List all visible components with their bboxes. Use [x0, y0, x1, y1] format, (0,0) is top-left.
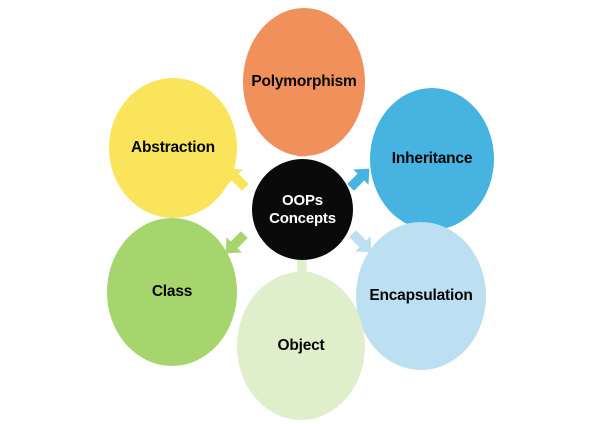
center-node-label-line1: OOPs [282, 192, 323, 209]
diagram-canvas: Polymorphism Inheritance Encapsulation O… [0, 0, 600, 424]
concept-node-abstraction[interactable]: Abstraction [109, 78, 237, 218]
arrow-up-right-icon [345, 163, 375, 193]
concept-node-object-label: Object [277, 337, 324, 354]
arrow-down-right-shape [347, 228, 377, 258]
center-node-oops-concepts[interactable]: OOPs Concepts [252, 159, 353, 260]
concept-node-class[interactable]: Class [107, 218, 237, 366]
arrow-up-icon [287, 128, 317, 158]
concept-node-polymorphism-label: Polymorphism [251, 73, 356, 90]
center-node-label-line2: Concepts [269, 210, 336, 227]
concept-node-encapsulation-label: Encapsulation [369, 287, 472, 304]
concept-node-object[interactable]: Object [237, 272, 365, 420]
center-node-label: OOPs Concepts [269, 192, 336, 228]
arrow-down-left-shape [220, 229, 250, 259]
arrow-down-left-icon [220, 229, 250, 259]
concept-node-abstraction-label: Abstraction [131, 139, 215, 156]
arrow-down-icon [287, 256, 317, 286]
arrow-down-right-icon [347, 228, 377, 258]
arrow-up-left-shape [221, 163, 251, 193]
concept-node-class-label: Class [152, 283, 192, 300]
arrow-up-right-shape [345, 163, 375, 193]
arrow-down-shape [291, 258, 313, 284]
arrow-up-shape [291, 130, 313, 156]
concept-node-inheritance[interactable]: Inheritance [370, 88, 494, 230]
concept-node-inheritance-label: Inheritance [392, 150, 473, 167]
arrow-up-left-icon [221, 163, 251, 193]
